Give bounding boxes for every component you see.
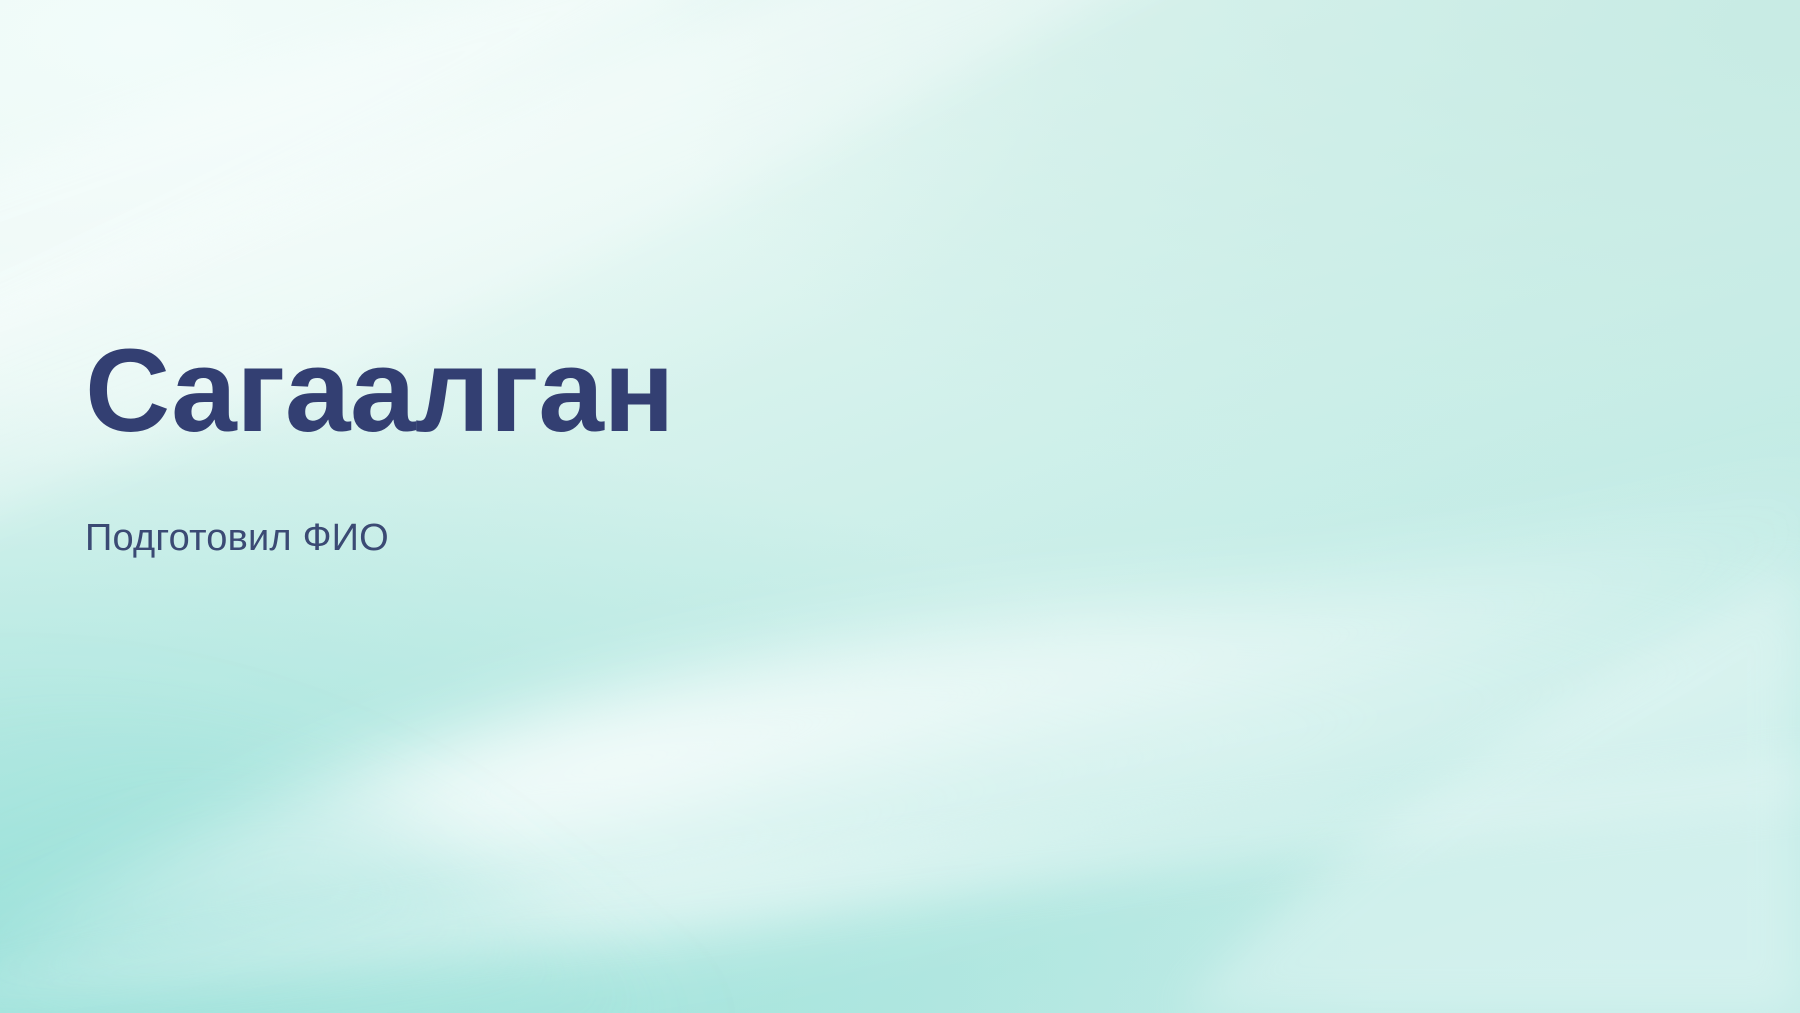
wave-streak-top-left <box>0 0 880 380</box>
wave-streak-bottom <box>0 756 1800 1013</box>
title-slide: Сагаалган Подготовил ФИО <box>0 0 1800 1013</box>
title-block: Сагаалган Подготовил ФИО <box>85 330 1185 562</box>
wave-fold-right <box>1180 560 1800 1013</box>
slide-subtitle: Подготовил ФИО <box>85 453 1185 563</box>
slide-title: Сагаалган <box>85 330 1185 453</box>
wave-shade-bottom-left <box>0 697 700 1013</box>
